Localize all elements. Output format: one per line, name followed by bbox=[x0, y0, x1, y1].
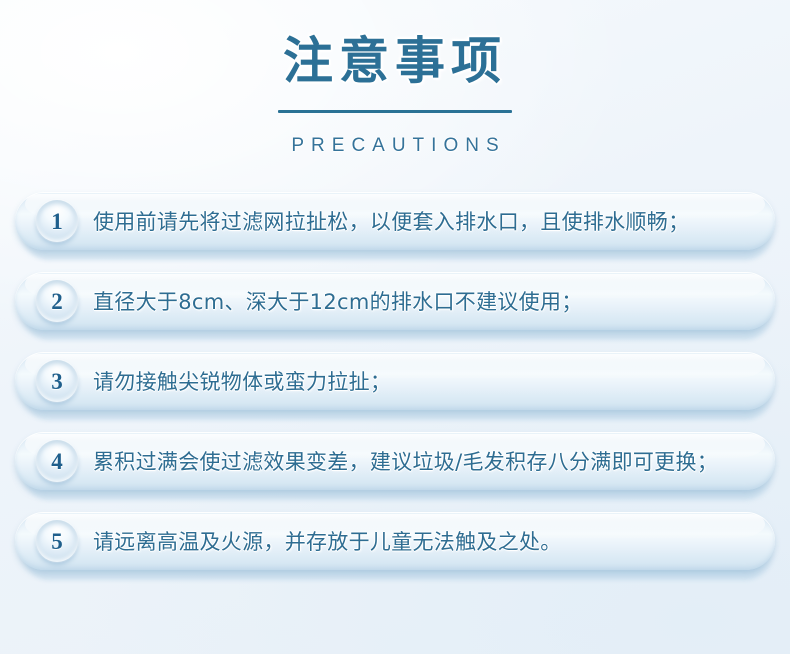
precaution-text-1: 使用前请先将过滤网拉扯松，以便套入排水口，且使排水顺畅； bbox=[93, 192, 751, 250]
list-item: 5 请远离高温及火源，并存放于儿童无法触及之处。 bbox=[15, 512, 775, 570]
precautions-page: 注意事项 PRECAUTIONS 1 使用前请先将过滤网拉扯松，以便套入排水口，… bbox=[0, 0, 790, 654]
list-item: 1 使用前请先将过滤网拉扯松，以便套入排水口，且使排水顺畅； bbox=[15, 192, 775, 250]
step-number: 2 bbox=[51, 290, 63, 313]
step-number: 5 bbox=[51, 530, 63, 553]
step-number: 1 bbox=[51, 210, 63, 233]
precaution-text-4: 累积过满会使过滤效果变差，建议垃圾/毛发积存八分满即可更换； bbox=[93, 432, 751, 490]
list-item: 2 直径大于8cm、深大于12cm的排水口不建议使用； bbox=[15, 272, 775, 330]
precaution-text-2: 直径大于8cm、深大于12cm的排水口不建议使用； bbox=[93, 272, 751, 330]
step-badge-3: 3 bbox=[36, 360, 78, 402]
page-title: 注意事项 bbox=[0, 34, 790, 88]
step-badge-4: 4 bbox=[36, 440, 78, 482]
list-item: 4 累积过满会使过滤效果变差，建议垃圾/毛发积存八分满即可更换； bbox=[15, 432, 775, 490]
page-header: 注意事项 PRECAUTIONS bbox=[0, 34, 790, 157]
precaution-text-5: 请远离高温及火源，并存放于儿童无法触及之处。 bbox=[93, 512, 751, 570]
list-item: 3 请勿接触尖锐物体或蛮力拉扯； bbox=[15, 352, 775, 410]
step-badge-1: 1 bbox=[36, 200, 78, 242]
step-number: 3 bbox=[51, 370, 63, 393]
step-number: 4 bbox=[51, 450, 63, 473]
step-badge-5: 5 bbox=[36, 520, 78, 562]
title-divider bbox=[278, 110, 512, 113]
precaution-text-3: 请勿接触尖锐物体或蛮力拉扯； bbox=[93, 352, 751, 410]
step-badge-2: 2 bbox=[36, 280, 78, 322]
precautions-list: 1 使用前请先将过滤网拉扯松，以便套入排水口，且使排水顺畅； 2 直径大于8cm… bbox=[15, 192, 775, 592]
page-subtitle: PRECAUTIONS bbox=[0, 135, 790, 157]
title-divider-wrapper bbox=[0, 100, 790, 118]
